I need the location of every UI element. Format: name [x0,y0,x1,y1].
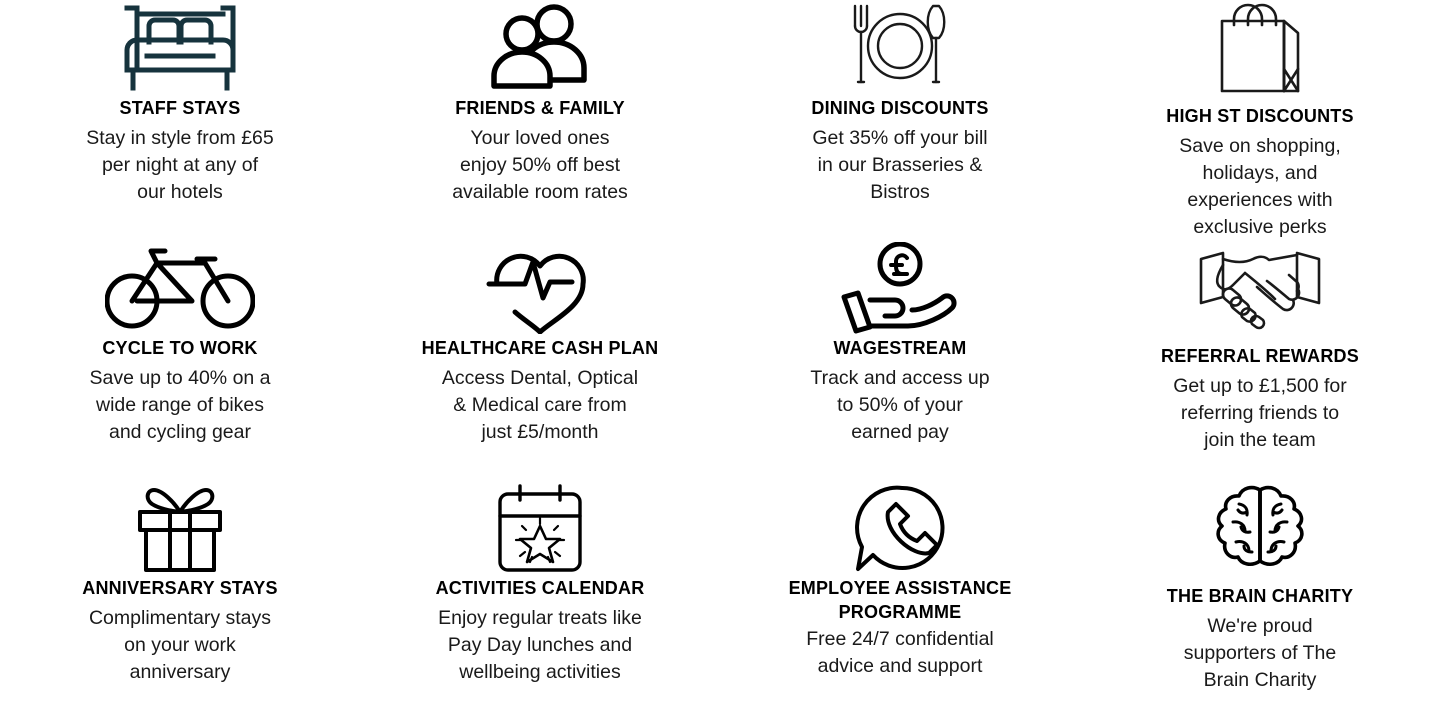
handshake-icon [1195,242,1325,336]
benefit-title: ACTIVITIES CALENDAR [436,576,645,600]
benefit-description: Get 35% off your bill in our Brasseries … [812,125,987,206]
gift-box-icon [130,482,230,574]
benefit-description: Stay in style from £65 per night at any … [86,125,274,206]
benefit-description: We're proud supporters of The Brain Char… [1184,613,1336,694]
benefit-description: Complimentary stays on your work anniver… [89,605,271,686]
benefit-card-employee-assistance-programme[interactable]: EMPLOYEE ASSISTANCE PROGRAMME Free 24/7 … [720,480,1080,720]
hand-holding-pound-coin-icon [836,242,964,334]
benefit-title: ANNIVERSARY STAYS [82,576,277,600]
benefit-title: EMPLOYEE ASSISTANCE PROGRAMME [789,576,1012,624]
brain-icon [1212,482,1308,576]
benefit-description: Your loved ones enjoy 50% off best avail… [452,125,628,206]
benefit-card-the-brain-charity[interactable]: THE BRAIN CHARITY We're proud supporters… [1080,480,1440,720]
benefit-title: THE BRAIN CHARITY [1167,584,1353,608]
benefit-card-wagestream[interactable]: WAGESTREAM Track and access up to 50% of… [720,240,1080,480]
benefit-description: Get up to £1,500 for referring friends t… [1173,373,1346,454]
benefit-description: Save on shopping, holidays, and experien… [1179,133,1341,241]
benefits-grid: STAFF STAYS Stay in style from £65 per n… [0,0,1440,720]
shopping-bag-icon [1210,2,1310,96]
benefit-card-dining-discounts[interactable]: DINING DISCOUNTS Get 35% off your bill i… [720,0,1080,240]
benefit-title: HEALTHCARE CASH PLAN [422,336,659,360]
benefit-description: Save up to 40% on a wide range of bikes … [89,365,270,446]
benefit-description: Free 24/7 confidential advice and suppor… [806,626,994,680]
benefit-description: Enjoy regular treats like Pay Day lunche… [438,605,642,686]
benefit-card-anniversary-stays[interactable]: ANNIVERSARY STAYS Complimentary stays on… [0,480,360,720]
benefit-card-cycle-to-work[interactable]: CYCLE TO WORK Save up to 40% on a wide r… [0,240,360,480]
benefit-title: FRIENDS & FAMILY [455,96,625,120]
benefit-card-high-st-discounts[interactable]: HIGH ST DISCOUNTS Save on shopping, holi… [1080,0,1440,240]
benefit-title: WAGESTREAM [833,336,966,360]
benefit-title: HIGH ST DISCOUNTS [1166,104,1353,128]
benefit-card-healthcare-cash-plan[interactable]: HEALTHCARE CASH PLAN Access Dental, Opti… [360,240,720,480]
heart-heartbeat-icon [479,242,601,334]
benefit-card-activities-calendar[interactable]: ACTIVITIES CALENDAR Enjoy regular treats… [360,480,720,720]
benefit-card-staff-stays[interactable]: STAFF STAYS Stay in style from £65 per n… [0,0,360,240]
people-group-icon [480,2,600,94]
dining-plate-cutlery-icon [841,2,959,94]
benefit-title: REFERRAL REWARDS [1161,344,1359,368]
benefit-description: Track and access up to 50% of your earne… [810,365,989,446]
benefit-card-referral-rewards[interactable]: REFERRAL REWARDS Get up to £1,500 for re… [1080,240,1440,480]
benefit-title: STAFF STAYS [120,96,241,120]
benefit-title: CYCLE TO WORK [102,336,257,360]
bicycle-icon [105,242,255,334]
phone-speech-bubble-icon [852,482,948,574]
benefit-description: Access Dental, Optical & Medical care fr… [442,365,638,446]
bed-icon [115,2,245,94]
benefit-card-friends-family[interactable]: FRIENDS & FAMILY Your loved ones enjoy 5… [360,0,720,240]
calendar-star-icon [492,482,588,574]
benefit-title: DINING DISCOUNTS [811,96,988,120]
